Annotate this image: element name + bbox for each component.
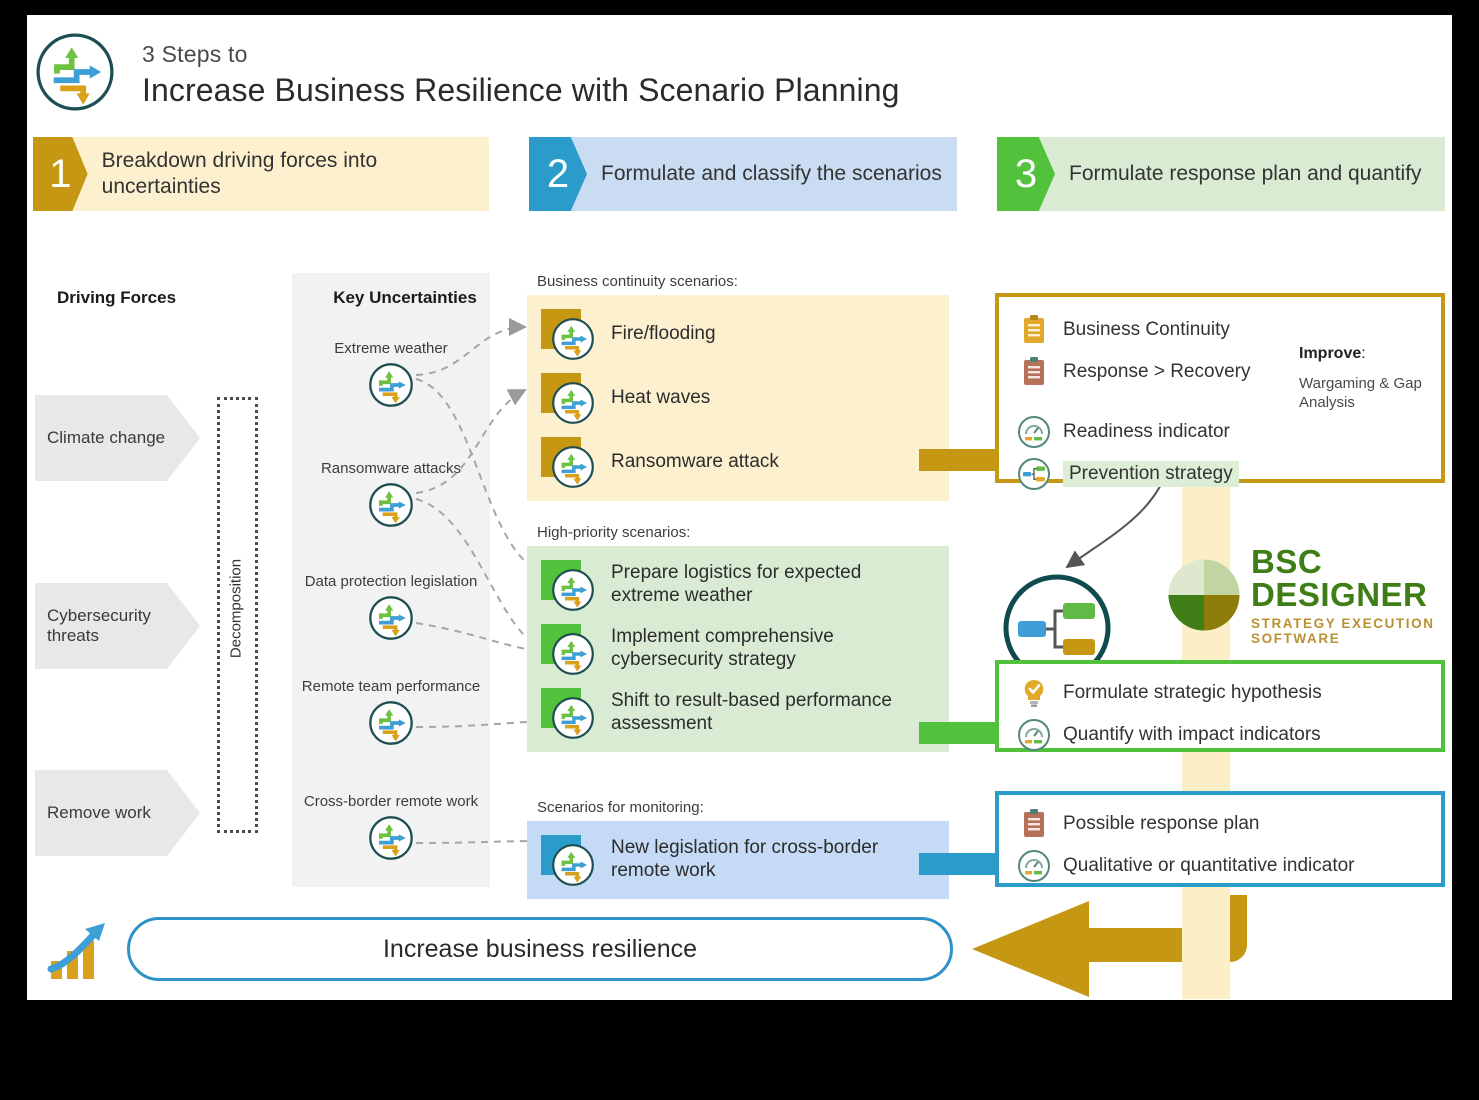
key-uncertainty-label: Cross-border remote work <box>292 793 490 811</box>
panel-row: Business Continuity <box>1017 313 1423 347</box>
quadrant-circle-icon <box>1167 558 1241 632</box>
growth-chart-icon <box>45 917 119 983</box>
key-uncertainty-label: Extreme weather <box>292 340 490 358</box>
scenario-item: Ransomware attack <box>541 437 933 487</box>
scenario-group-monitoring: New legislation for cross-border remote … <box>527 821 949 899</box>
panel-row-label: Readiness indicator <box>1063 421 1230 443</box>
panel-row-label: Formulate strategic hypothesis <box>1063 682 1322 704</box>
three-arrows-circle-icon <box>368 815 414 861</box>
scenario-item: Heat waves <box>541 373 933 423</box>
scenario-item: New legislation for cross-border remote … <box>541 835 933 885</box>
scenario-group-caption: High-priority scenarios: <box>537 524 690 541</box>
infographic-canvas: 3 Steps to Increase Business Resilience … <box>27 15 1452 1000</box>
scenario-item: Prepare logistics for expected extreme w… <box>541 560 933 610</box>
step-number-3: 3 <box>997 137 1055 211</box>
step-label-3: Formulate response plan and quantify <box>1055 161 1432 187</box>
improve-title: Improve: <box>1299 345 1366 363</box>
panel-row: Prevention strategy <box>1017 457 1423 491</box>
step-label-1: Breakdown driving forces into uncertaint… <box>88 148 489 199</box>
scenario-label: Implement comprehensive cybersecurity st… <box>611 626 933 672</box>
three-arrows-circle-icon <box>541 688 595 738</box>
driving-force-chevron: Remove work <box>35 770 200 856</box>
panel-row-label: Business Continuity <box>1063 319 1230 341</box>
key-uncertainty-item: Ransomware attacks <box>292 460 490 528</box>
result-bar: Increase business resilience <box>127 917 953 981</box>
brand-name: BSC DESIGNER <box>1251 545 1452 611</box>
scenario-label: Heat waves <box>611 387 710 410</box>
three-arrows-circle-icon <box>368 595 414 641</box>
three-arrows-circle-icon <box>541 835 595 885</box>
panel-row-label: Response > Recovery <box>1063 361 1250 383</box>
panel-row: Quantify with impact indicators <box>1017 718 1423 752</box>
key-uncertainty-label: Ransomware attacks <box>292 460 490 478</box>
panel-row-label: Quantify with impact indicators <box>1063 724 1321 746</box>
key-uncertainty-label: Data protection legislation <box>292 573 490 591</box>
step-label-2: Formulate and classify the scenarios <box>587 161 952 187</box>
panel-row-label: Possible response plan <box>1063 813 1259 835</box>
page-title: Increase Business Resilience with Scenar… <box>142 72 900 109</box>
scenario-label: New legislation for cross-border remote … <box>611 837 933 883</box>
key-uncertainties-title: Key Uncertainties <box>305 288 505 308</box>
scenario-item: Shift to result-based performance assess… <box>541 688 933 738</box>
brand-tagline: STRATEGY EXECUTION SOFTWARE <box>1251 616 1452 646</box>
three-arrows-circle-icon <box>541 373 595 423</box>
strategy-map-icon <box>1017 457 1051 491</box>
three-arrows-circle-icon <box>541 560 595 610</box>
improve-description: Wargaming & Gap Analysis <box>1299 375 1441 413</box>
key-uncertainty-item: Cross-border remote work <box>292 793 490 861</box>
driving-force-label: Climate change <box>35 428 165 448</box>
scenario-label: Shift to result-based performance assess… <box>611 690 933 736</box>
panel-row: Formulate strategic hypothesis <box>1017 676 1423 710</box>
improve-title-colon: : <box>1361 345 1365 362</box>
key-uncertainty-item: Remote team performance <box>292 678 490 746</box>
panel-row-label: Qualitative or quantitative indicator <box>1063 855 1355 877</box>
step-banner-2: 2 Formulate and classify the scenarios <box>529 137 957 211</box>
step-number-1: 1 <box>33 137 88 211</box>
three-arrows-circle-icon <box>368 482 414 528</box>
improve-title-text: Improve <box>1299 345 1361 362</box>
scenario-label: Fire/flooding <box>611 323 716 346</box>
step-banner-1: 1 Breakdown driving forces into uncertai… <box>33 137 489 211</box>
scenario-item: Fire/flooding <box>541 309 933 359</box>
driving-force-chevron: Climate change <box>35 395 200 481</box>
lightbulb-check-icon <box>1017 676 1051 710</box>
key-uncertainty-item: Data protection legislation <box>292 573 490 641</box>
scenario-item: Implement comprehensive cybersecurity st… <box>541 624 933 674</box>
brand-logo: BSC DESIGNER STRATEGY EXECUTION SOFTWARE <box>1167 550 1452 640</box>
panel-row: Readiness indicator <box>1017 415 1423 449</box>
scenario-group-high-priority: Prepare logistics for expected extreme w… <box>527 546 949 752</box>
scenario-label: Prepare logistics for expected extreme w… <box>611 562 933 608</box>
clipboard-brown-icon <box>1017 807 1051 841</box>
step-number-2: 2 <box>529 137 587 211</box>
key-uncertainty-item: Extreme weather <box>292 340 490 408</box>
three-arrows-circle-icon <box>541 309 595 359</box>
three-arrows-circle-icon <box>541 624 595 674</box>
result-label: Increase business resilience <box>383 935 697 964</box>
scenario-group-caption: Business continuity scenarios: <box>537 273 738 290</box>
key-uncertainty-label: Remote team performance <box>292 678 490 696</box>
clipboard-yellow-icon <box>1017 313 1051 347</box>
gauge-indicator-icon <box>1017 718 1051 752</box>
panel-row: Possible response plan <box>1017 807 1423 841</box>
driving-force-chevron: Cybersecurity threats <box>35 583 200 669</box>
clipboard-brown-icon <box>1017 355 1051 389</box>
panel-business-continuity: Business Continuity Response > Recovery <box>995 293 1445 483</box>
driving-force-label: Cybersecurity threats <box>35 606 200 647</box>
driving-forces-title: Driving Forces <box>57 288 176 308</box>
decomposition-label: Decomposition <box>228 504 245 714</box>
panel-row-label: Prevention strategy <box>1063 461 1239 487</box>
three-arrows-circle-icon <box>541 437 595 487</box>
scenario-label: Ransomware attack <box>611 451 779 474</box>
gauge-indicator-icon <box>1017 849 1051 883</box>
driving-force-label: Remove work <box>35 803 151 823</box>
three-arrows-circle-icon <box>34 31 116 113</box>
three-arrows-circle-icon <box>368 700 414 746</box>
scenario-group-caption: Scenarios for monitoring: <box>537 799 704 816</box>
panel-possible-response: Possible response plan Qualitative or qu… <box>995 791 1445 887</box>
scenario-group-business-continuity: Fire/flooding Heat waves Ransomware atta… <box>527 295 949 501</box>
panel-strategic-hypothesis: Formulate strategic hypothesis Quantify … <box>995 660 1445 752</box>
panel-row: Qualitative or quantitative indicator <box>1017 849 1423 883</box>
three-arrows-circle-icon <box>368 362 414 408</box>
gauge-indicator-icon <box>1017 415 1051 449</box>
header-eyebrow: 3 Steps to <box>142 41 248 68</box>
step-banner-3: 3 Formulate response plan and quantify <box>997 137 1445 211</box>
